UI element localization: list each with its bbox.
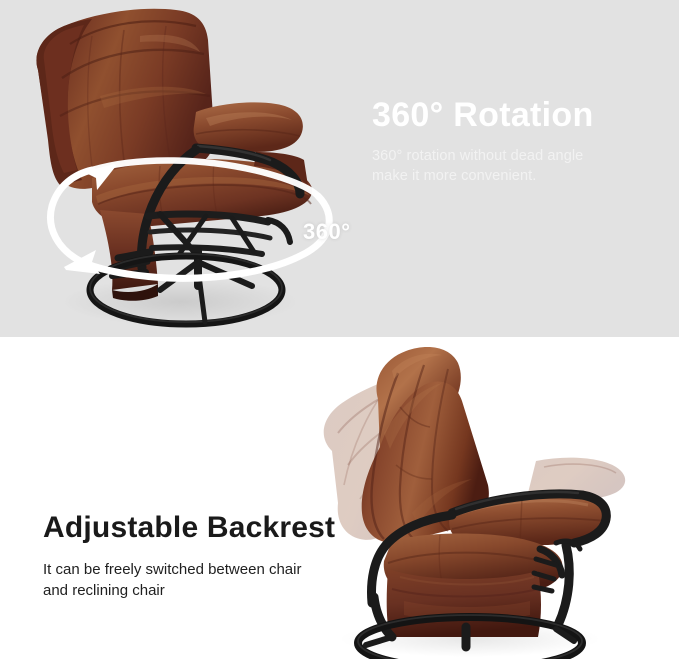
backrest-text-block: Adjustable Backrest It can be freely swi… xyxy=(43,512,373,602)
infographic-page: 360° 360° Rotation 360° rotation without… xyxy=(0,0,679,659)
panel-backrest: Adjustable Backrest It can be freely swi… xyxy=(0,337,679,659)
rotation-degree-label: 360° xyxy=(303,219,351,245)
rotation-headline: 360° Rotation xyxy=(372,98,662,134)
panel-rotation: 360° 360° Rotation 360° rotation without… xyxy=(0,0,679,337)
backrest-body: It can be freely switched between chair … xyxy=(43,559,373,603)
rotation-text-block: 360° Rotation 360° rotation without dead… xyxy=(372,98,662,187)
rotation-body: 360° rotation without dead angle make it… xyxy=(372,146,662,187)
bottom-chair-image xyxy=(0,337,679,659)
backrest-headline: Adjustable Backrest xyxy=(43,512,373,544)
